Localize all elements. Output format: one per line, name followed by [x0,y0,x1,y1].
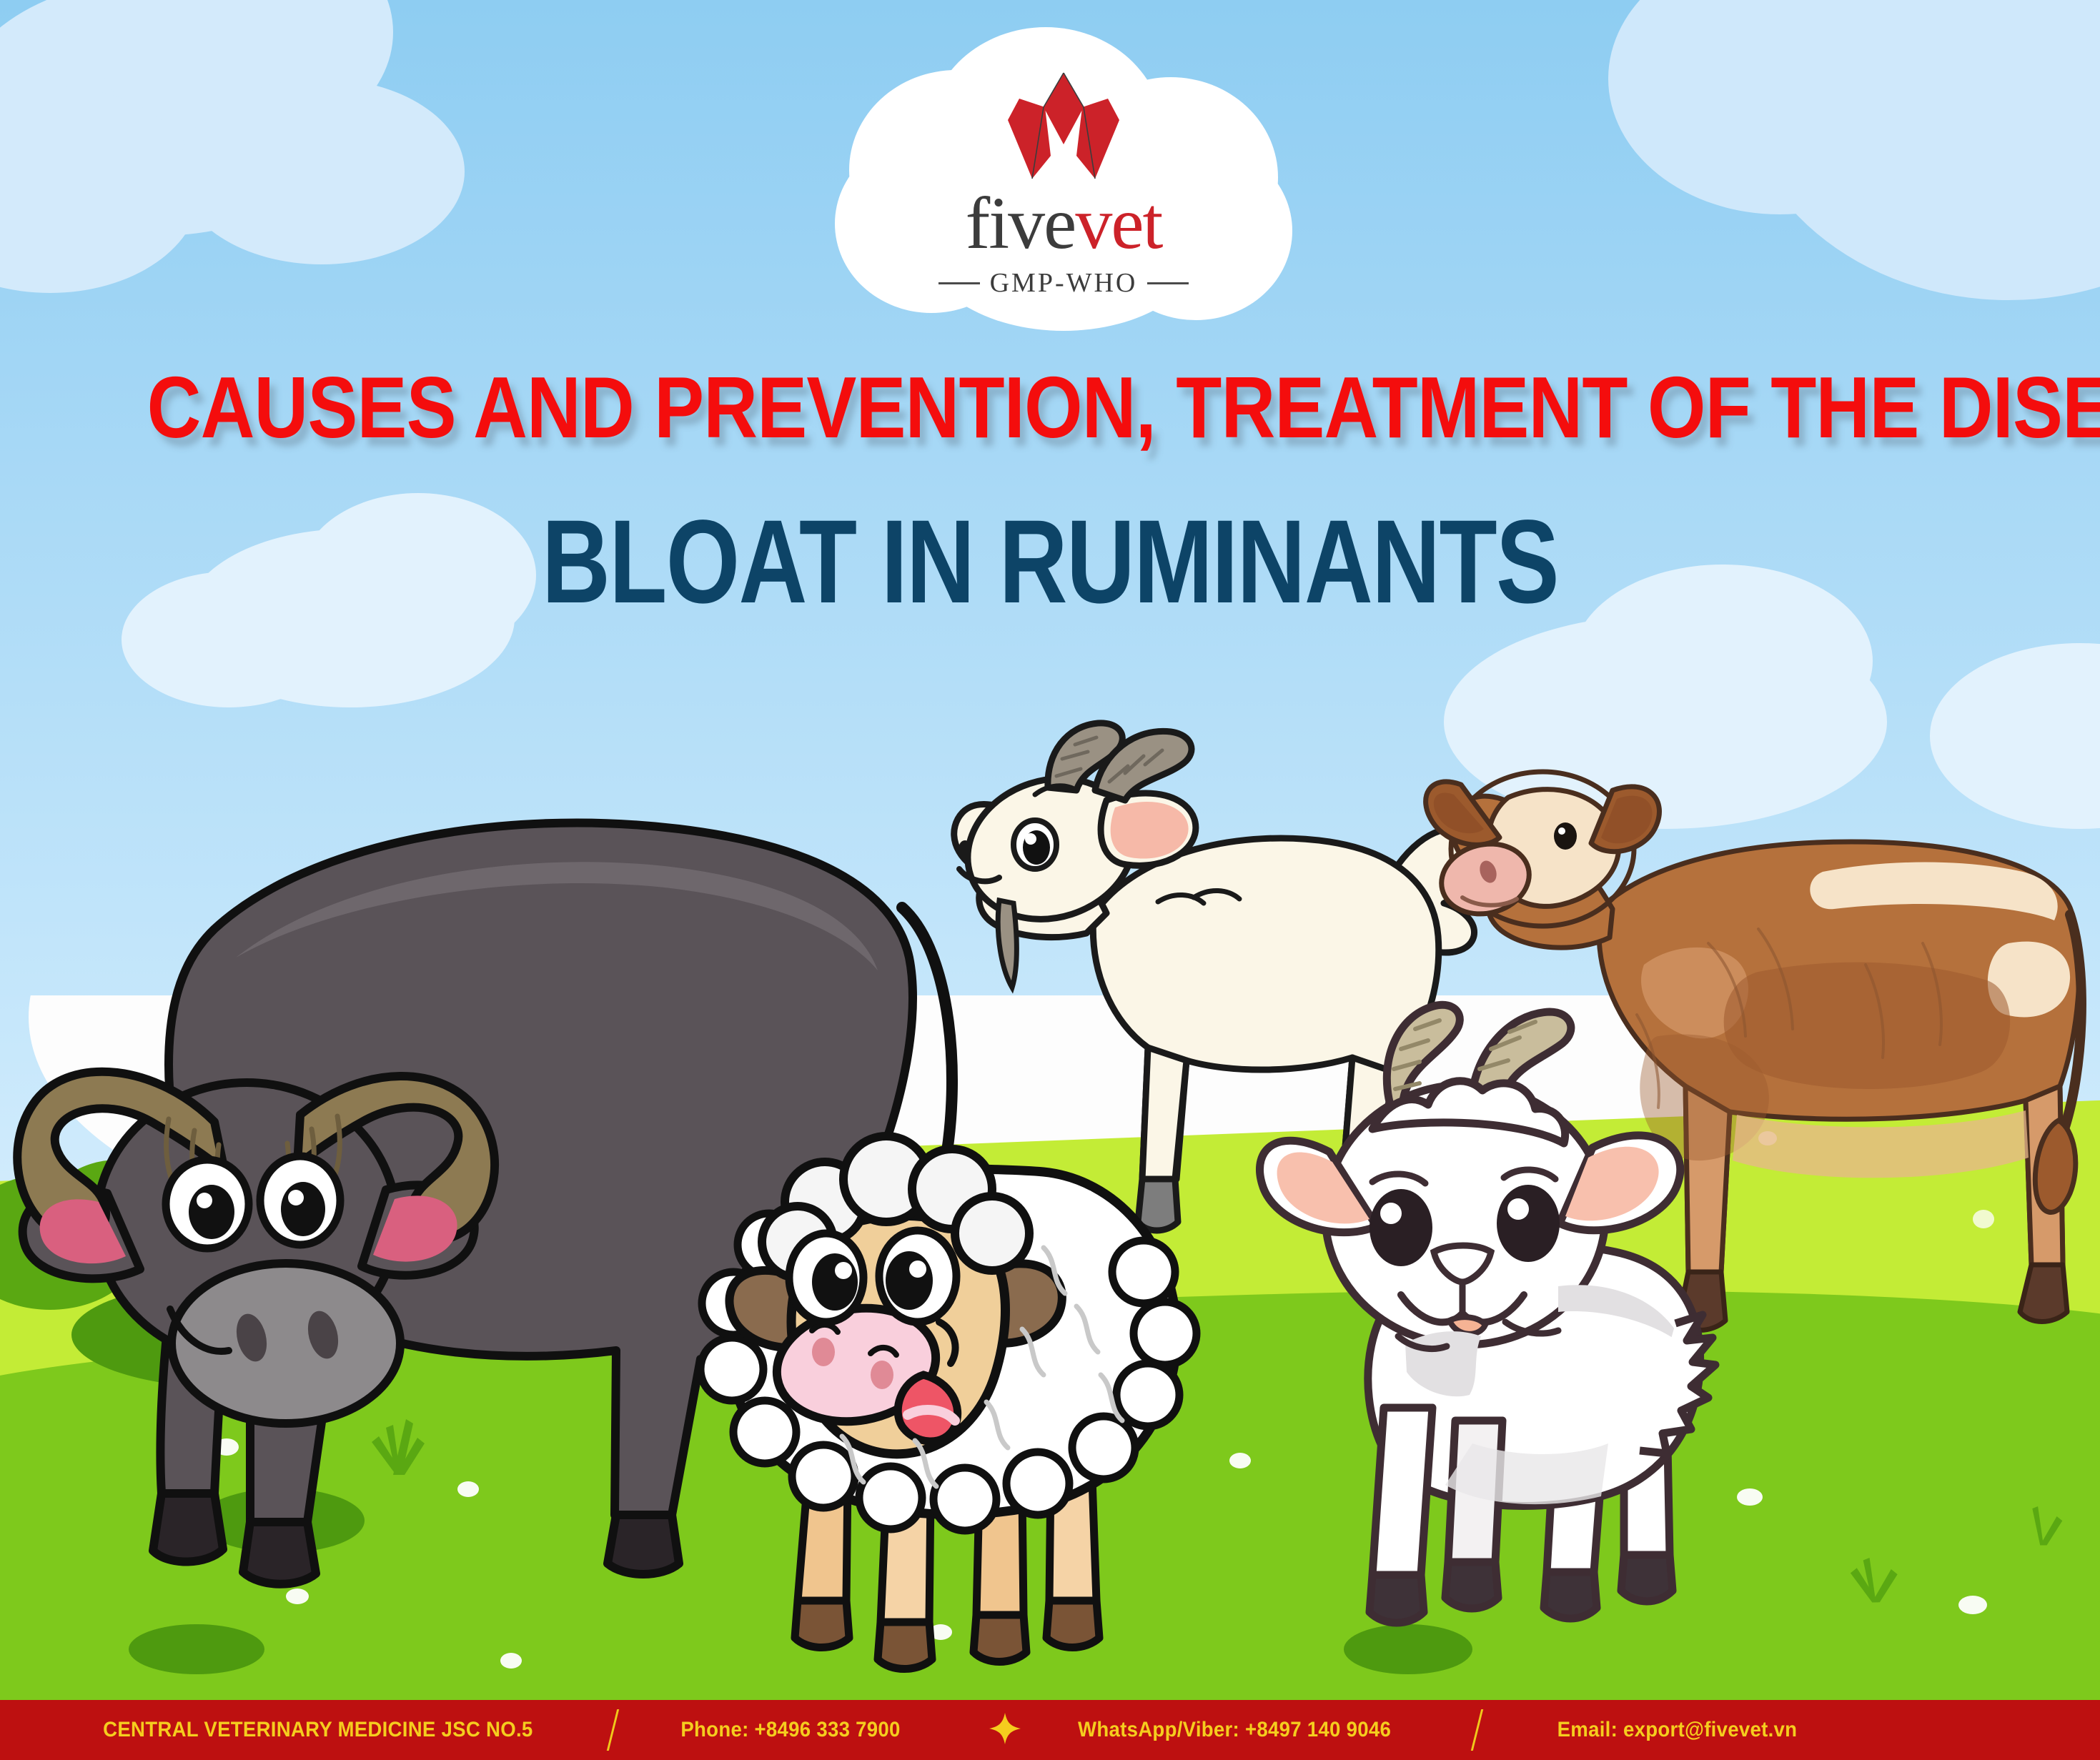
page-headline: CAUSES AND PREVENTION, TREATMENT OF THE … [147,357,1953,457]
fivevet-chevron-logo-icon [992,70,1135,184]
flower-dot [1229,1453,1251,1468]
brand-logo-cloud: fivevet GMP-WHO [835,27,1292,334]
footer-email[interactable]: Email: export@fivevet.vn [1557,1718,1797,1742]
brand-word-five: five [966,182,1076,264]
footer-phone[interactable]: Phone: +8496 333 7900 [680,1718,900,1742]
footer-company-name: CENTRAL VETERINARY MEDICINE JSC NO.5 [103,1718,533,1742]
contact-footer-bar: CENTRAL VETERINARY MEDICINE JSC NO.5 Pho… [0,1700,2100,1760]
footer-divider-2 [1471,1709,1483,1751]
brand-word-vet: vet [1075,182,1162,264]
page-subheadline: BLOAT IN RUMINANTS [210,494,1890,630]
animal-sheep [672,1079,1201,1672]
certification-label: GMP-WHO [990,267,1138,299]
brand-wordmark: fivevet [966,189,1162,259]
grass-tuft-far-right [2016,1496,2066,1551]
dash-left [938,282,980,284]
brand-certification: GMP-WHO [938,267,1189,299]
flower-dot [1958,1596,1987,1614]
dash-right [1147,282,1189,284]
bush-bottom-left [129,1624,264,1674]
poster-canvas: fivevet GMP-WHO CAUSES AND PREVENTION, T… [0,0,2100,1760]
flower-dot [500,1653,522,1669]
sparkle-star-icon [989,1712,1021,1749]
flower-dot [286,1589,309,1604]
grass-tuft-right [1844,1546,1901,1608]
footer-whatsapp[interactable]: WhatsApp/Viber: +8497 140 9046 [1078,1718,1391,1742]
animal-kid-goat [1258,1000,1758,1665]
footer-divider-1 [606,1709,618,1751]
cloud-top-left-d [179,79,465,264]
